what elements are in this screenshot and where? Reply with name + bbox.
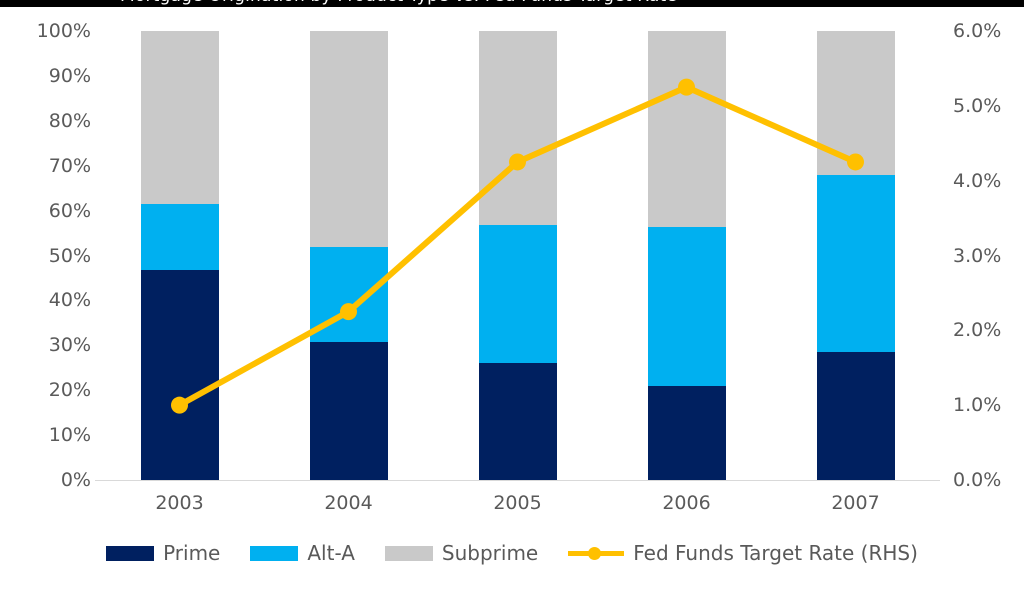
legend-label: Alt-A [307, 541, 355, 565]
x-axis-baseline [95, 480, 940, 481]
y-axis-left-tick: 90% [6, 67, 91, 86]
y-axis-left-tick: 20% [6, 381, 91, 400]
x-axis-tick-2006: 2006 [612, 494, 762, 513]
y-axis-right-tick: 6.0% [953, 22, 1024, 41]
x-axis-tick-2003: 2003 [105, 494, 255, 513]
square-swatch-icon [106, 546, 154, 561]
y-axis-left-tick: 70% [6, 157, 91, 176]
bar-column-2007[interactable] [817, 31, 895, 480]
bar-column-2006[interactable] [648, 31, 726, 480]
y-axis-left-tick: 40% [6, 291, 91, 310]
legend-item-prime[interactable]: Prime [106, 541, 220, 565]
bar-segment-alt-a-2005[interactable] [479, 225, 557, 363]
y-axis-right-tick: 0.0% [953, 471, 1024, 490]
bar-column-2005[interactable] [479, 31, 557, 480]
bar-segment-prime-2005[interactable] [479, 363, 557, 480]
y-axis-left-tick: 0% [6, 471, 91, 490]
bar-column-2003[interactable] [141, 31, 219, 480]
bar-segment-alt-a-2007[interactable] [817, 175, 895, 352]
line-marker-icon [568, 545, 624, 561]
bar-segment-subprime-2006[interactable] [648, 31, 726, 227]
bar-segment-prime-2004[interactable] [310, 342, 388, 480]
chart-legend: PrimeAlt-ASubprimeFed Funds Target Rate … [0, 536, 1024, 570]
square-swatch-icon [385, 546, 433, 561]
x-axis-tick-2007: 2007 [781, 494, 931, 513]
chart-title-strip: Mortgage Origination by Product Type vs.… [0, 0, 1024, 7]
bar-segment-subprime-2004[interactable] [310, 31, 388, 247]
legend-label: Prime [163, 541, 220, 565]
y-axis-right-tick: 1.0% [953, 396, 1024, 415]
legend-item-alt-a[interactable]: Alt-A [250, 541, 355, 565]
chart-title: Mortgage Origination by Product Type vs.… [120, 0, 677, 6]
square-swatch-icon [250, 546, 298, 561]
x-axis-tick-2005: 2005 [443, 494, 593, 513]
y-axis-left-tick: 30% [6, 336, 91, 355]
y-axis-left-tick: 100% [6, 22, 91, 41]
plot-area [95, 31, 940, 480]
bar-segment-alt-a-2003[interactable] [141, 204, 219, 270]
x-axis-tick-2004: 2004 [274, 494, 424, 513]
y-axis-right-tick: 5.0% [953, 97, 1024, 116]
y-axis-right-tick: 2.0% [953, 321, 1024, 340]
bar-segment-subprime-2003[interactable] [141, 31, 219, 204]
bar-segment-prime-2003[interactable] [141, 270, 219, 480]
bar-segment-subprime-2005[interactable] [479, 31, 557, 225]
bar-column-2004[interactable] [310, 31, 388, 480]
y-axis-right-tick: 4.0% [953, 172, 1024, 191]
legend-label: Fed Funds Target Rate (RHS) [633, 541, 918, 565]
bar-segment-subprime-2007[interactable] [817, 31, 895, 175]
y-axis-left-tick: 10% [6, 426, 91, 445]
line-marker-dot [588, 547, 601, 560]
y-axis-left-tick: 50% [6, 247, 91, 266]
y-axis-left-tick: 60% [6, 202, 91, 221]
legend-item-subprime[interactable]: Subprime [385, 541, 538, 565]
bar-segment-prime-2007[interactable] [817, 352, 895, 480]
y-axis-left-tick: 80% [6, 112, 91, 131]
legend-label: Subprime [442, 541, 538, 565]
bar-segment-alt-a-2006[interactable] [648, 227, 726, 386]
bar-segment-alt-a-2004[interactable] [310, 247, 388, 341]
bar-segment-prime-2006[interactable] [648, 386, 726, 480]
y-axis-right-tick: 3.0% [953, 247, 1024, 266]
legend-item-fed-funds-target-rate-rhs[interactable]: Fed Funds Target Rate (RHS) [568, 541, 918, 565]
chart-container: Mortgage Origination by Product Type vs.… [0, 0, 1024, 591]
